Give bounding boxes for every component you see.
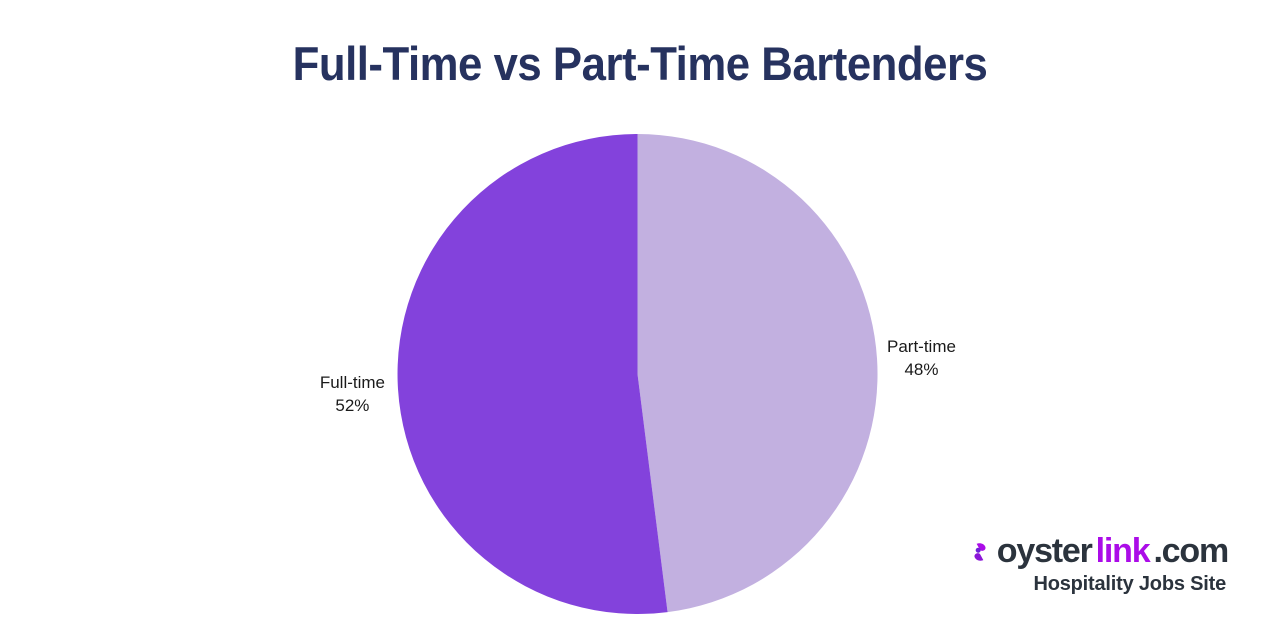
pie-label-full-time-value: 52% [320,394,385,417]
pie-slice-full-time[interactable] [398,134,668,614]
oyster-swirl-icon [967,535,993,561]
logo-word-dotcom: .com [1153,532,1228,570]
brand-logo[interactable]: oysterlink.com Hospitality Jobs Site [960,532,1228,596]
pie-label-full-time: Full-time 52% [320,371,385,417]
logo-word-oyster: oyster [997,532,1092,570]
logo-tagline: Hospitality Jobs Site [960,572,1228,596]
pie-slice-part-time[interactable] [638,134,878,612]
pie-label-part-time-name: Part-time [887,337,956,356]
pie-label-part-time-value: 48% [887,358,956,381]
pie-label-full-time-name: Full-time [320,373,385,392]
chart-canvas: Full-Time vs Part-Time Bartenders Full-t… [0,0,1280,640]
logo-wordmark: oysterlink.com [960,532,1228,570]
pie-label-part-time: Part-time 48% [887,335,956,381]
logo-word-link: link [1096,532,1150,570]
